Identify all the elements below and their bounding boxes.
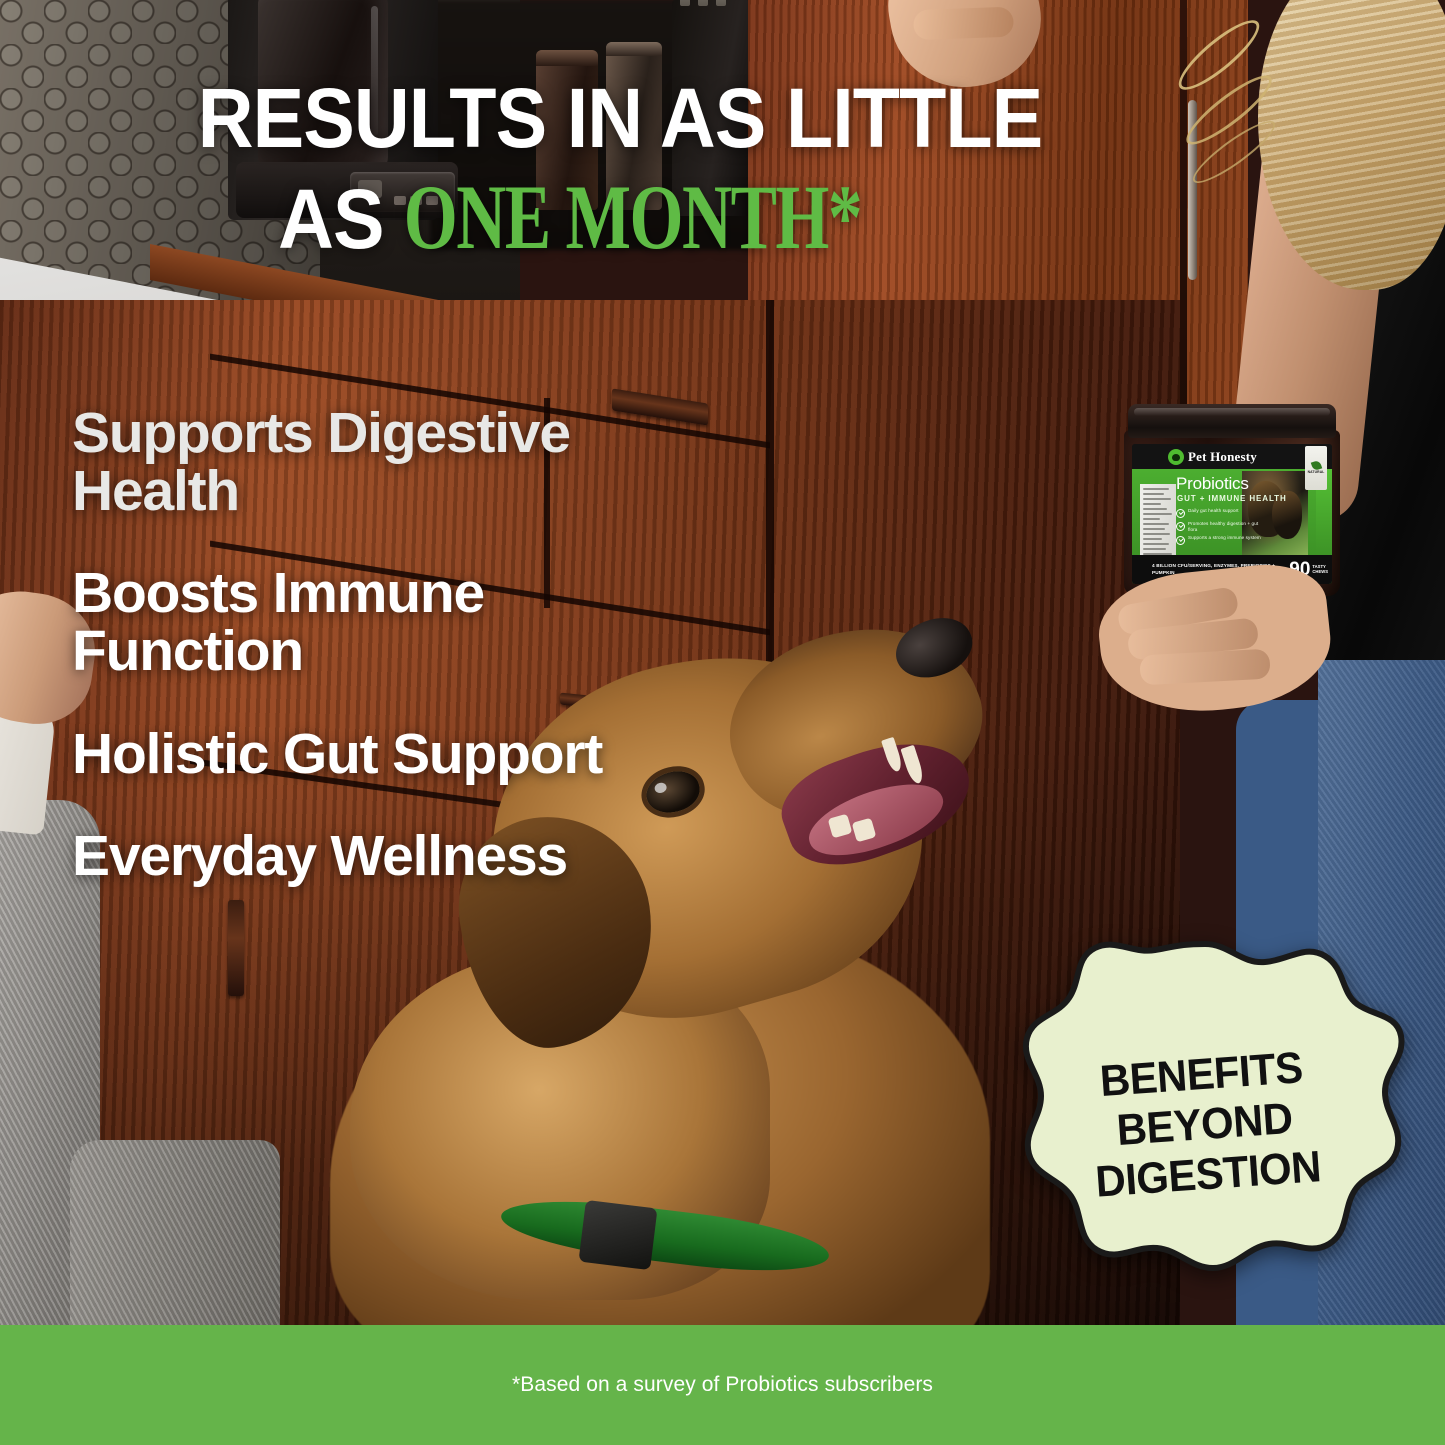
dog-collar-buckle [578,1200,657,1270]
jar-brand-bar: Pet Honesty [1132,444,1332,469]
headline: RESULTS IN AS LITTLE AS ONE MONTH* [50,78,1191,261]
product-bullet: Daily gut health support [1176,508,1262,518]
benefit-item-everyday-wellness: Everyday Wellness [72,827,692,885]
benefit-item-gut-support: Holistic Gut Support [72,725,692,783]
headline-line-2: AS ONE MONTH* [50,173,1191,261]
product-bullet-label: Promotes healthy digestion + gut flora [1188,521,1262,532]
jar-lid [1128,404,1336,438]
benefits-list: Supports Digestive Health Boosts Immune … [72,404,692,929]
benefit-item-immune-function: Boosts Immune Function [72,564,692,680]
footer-disclaimer: *Based on a survey of Probiotics subscri… [512,1373,933,1397]
left-person-leg [70,1140,280,1340]
headline-line-2-prefix: AS [278,172,404,266]
knife-handle [680,0,690,6]
product-bullet: Supports a strong immune system [1176,535,1262,545]
headline-line-1: RESULTS IN AS LITTLE [198,71,1043,165]
product-bullet-list: Daily gut health support Promotes health… [1176,508,1262,548]
natural-seal-label: NATURAL [1308,471,1325,475]
product-bullet-label: Supports a strong immune system [1188,535,1261,541]
ad-creative: Pet Honesty NATURAL Probiotics GUT + IMM… [0,0,1445,1445]
check-icon [1176,522,1185,531]
check-icon [1176,509,1185,518]
knife-handle [716,0,726,6]
jar-label: Pet Honesty NATURAL Probiotics GUT + IMM… [1132,444,1332,584]
product-bullet: Promotes healthy digestion + gut flora [1176,521,1262,532]
product-subtitle: GUT + IMMUNE HEALTH [1177,494,1287,503]
dog-tongue [801,769,952,870]
footer-bar: *Based on a survey of Probiotics subscri… [0,1325,1445,1445]
product-name: Probiotics [1176,474,1249,494]
product-bullet-label: Daily gut health support [1188,508,1239,514]
badge-text-block: BENEFITS BEYOND DIGESTION [993,926,1418,1323]
product-count-unit-2: CHEWS [1312,570,1328,575]
benefit-item-digestive-health: Supports Digestive Health [72,404,692,520]
brand-name: Pet Honesty [1188,449,1257,465]
knife-handle [698,0,708,6]
natural-seal: NATURAL [1305,446,1327,490]
check-icon [1176,536,1185,545]
benefits-badge: BENEFITS BEYOND DIGESTION [1005,940,1405,1310]
headline-highlight: ONE MONTH* [404,173,861,261]
paw-icon [1168,449,1184,465]
